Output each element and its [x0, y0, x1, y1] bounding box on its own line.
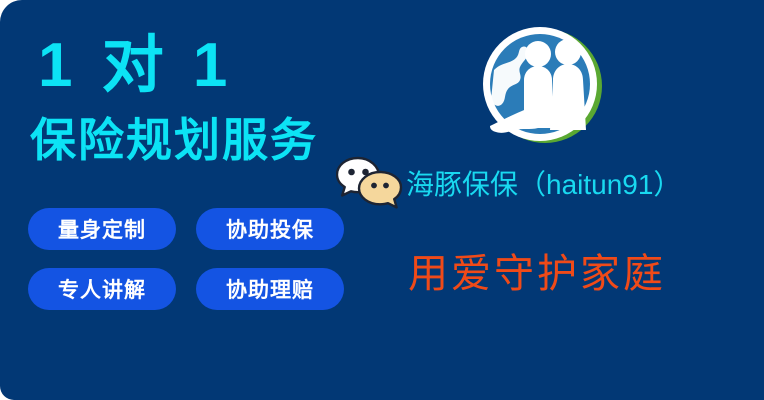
page-subtitle: 保险规划服务: [30, 112, 318, 168]
page-title: 1 对 1: [38, 30, 233, 102]
feature-pill-assist-apply[interactable]: 协助投保: [196, 208, 344, 250]
globe-family-dolphin-logo: [482, 22, 604, 148]
wechat-id-label: 海豚保保（haitun91）: [406, 163, 681, 203]
wechat-contact-row[interactable]: 海豚保保（haitun91）: [370, 152, 681, 214]
right-content-column: 海豚保保（haitun91） 用爱守护家庭: [370, 0, 764, 400]
feature-pill-assist-claim[interactable]: 协助理赔: [196, 268, 344, 310]
feature-pill-custom-plan[interactable]: 量身定制: [28, 208, 176, 250]
wechat-icon: [336, 154, 404, 212]
feature-pill-grid: 量身定制 协助投保 专人讲解 协助理赔: [28, 208, 358, 310]
feature-pill-expert-explain[interactable]: 专人讲解: [28, 268, 176, 310]
left-content-column: 1 对 1 保险规划服务 量身定制 协助投保 专人讲解 协助理赔: [0, 0, 370, 400]
slogan-text: 用爱守护家庭: [408, 248, 666, 300]
promo-banner: 1 对 1 保险规划服务 量身定制 协助投保 专人讲解 协助理赔: [0, 0, 764, 400]
